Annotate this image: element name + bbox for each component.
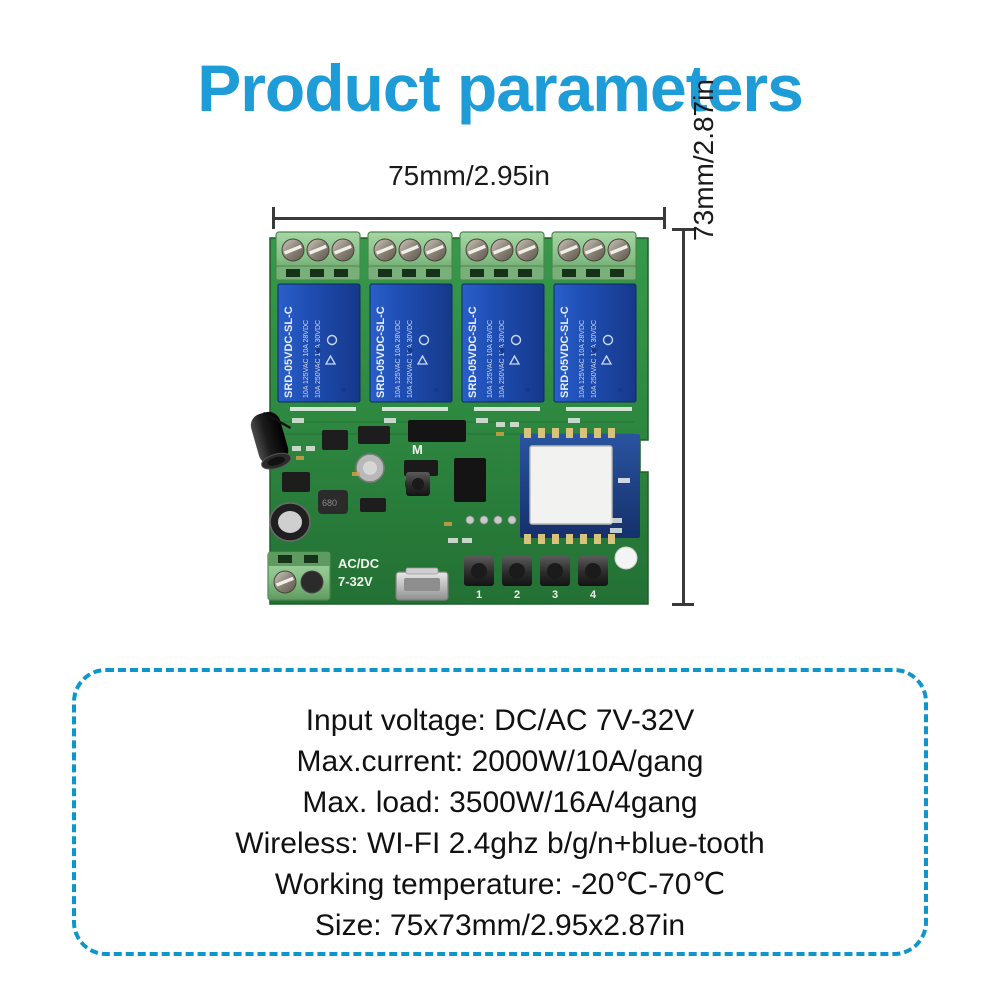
dimension-width-bar (272, 217, 666, 220)
svg-text:10A 125VAC 10A 28VDC: 10A 125VAC 10A 28VDC (395, 320, 402, 398)
micro-usb-port (396, 568, 448, 600)
svg-text:10A 125VAC 10A 28VDC: 10A 125VAC 10A 28VDC (579, 320, 586, 398)
svg-text:680: 680 (322, 498, 337, 508)
svg-text:SRD-05VDC-SL-C: SRD-05VDC-SL-C (559, 306, 571, 398)
wifi-module (520, 428, 640, 544)
svg-text:SRD-05VDC-SL-C: SRD-05VDC-SL-C (375, 306, 387, 398)
relay-1: SRD-05VDC-SL-C 10A 125VAC 10A 28VDC 10A … (278, 284, 360, 402)
svg-text:4: 4 (590, 589, 597, 601)
svg-text:10A 125VAC 10A 28VDC: 10A 125VAC 10A 28VDC (303, 320, 310, 398)
product-photo: SRD-05VDC-SL-C 10A 125VAC 10A 28VDC 10A … (248, 222, 666, 626)
spec-line-max-current: Max.current: 2000W/10A/gang (0, 741, 1000, 782)
svg-text:10A 250VAC 10A 30VDC: 10A 250VAC 10A 30VDC (407, 320, 414, 398)
svg-text:2: 2 (514, 589, 520, 601)
svg-text:7-32V: 7-32V (338, 574, 373, 589)
svg-text:10A 250VAC 10A 30VDC: 10A 250VAC 10A 30VDC (591, 320, 598, 398)
spec-line-max-load: Max. load: 3500W/16A/4gang (0, 782, 1000, 823)
svg-text:3: 3 (552, 589, 558, 601)
svg-text:AC/DC: AC/DC (338, 556, 380, 571)
terminal-block-4 (552, 232, 636, 280)
relay-4: SRD-05VDC-SL-C 10A 125VAC 10A 28VDC 10A … (554, 284, 636, 402)
spec-line-wireless: Wireless: WI-FI 2.4ghz b/g/n+blue-tooth (0, 823, 1000, 864)
terminal-block-1 (276, 232, 360, 280)
svg-text:SRD-05VDC-SL-C: SRD-05VDC-SL-C (467, 306, 479, 398)
terminal-block-2 (368, 232, 452, 280)
svg-text:10A 250VAC 10A 30VDC: 10A 250VAC 10A 30VDC (315, 320, 322, 398)
svg-text:10A 125VAC 10A 28VDC: 10A 125VAC 10A 28VDC (487, 320, 494, 398)
dimension-height-line (672, 228, 694, 606)
svg-text:1: 1 (476, 589, 482, 601)
spec-line-working-temperature: Working temperature: -20℃-70℃ (0, 864, 1000, 905)
dimension-height-bar (682, 228, 685, 606)
dimension-height-cap-bottom (672, 603, 694, 606)
page-title: Product parameters (0, 52, 1000, 125)
spec-line-size: Size: 75x73mm/2.95x2.87in (0, 905, 1000, 946)
dimension-width-label: 75mm/2.95in (272, 160, 666, 192)
mounting-hole (615, 547, 637, 569)
svg-text:M: M (412, 442, 423, 457)
svg-text:SRD-05VDC-SL-C: SRD-05VDC-SL-C (283, 306, 295, 398)
relay-2: SRD-05VDC-SL-C 10A 125VAC 10A 28VDC 10A … (370, 284, 452, 402)
relay-3: SRD-05VDC-SL-C 10A 125VAC 10A 28VDC 10A … (462, 284, 544, 402)
terminal-block-3 (460, 232, 544, 280)
spec-list: Input voltage: DC/AC 7V-32V Max.current:… (0, 700, 1000, 946)
svg-text:10A 250VAC 10A 30VDC: 10A 250VAC 10A 30VDC (499, 320, 506, 398)
power-terminal-block (268, 552, 330, 600)
spec-line-input-voltage: Input voltage: DC/AC 7V-32V (0, 700, 1000, 741)
